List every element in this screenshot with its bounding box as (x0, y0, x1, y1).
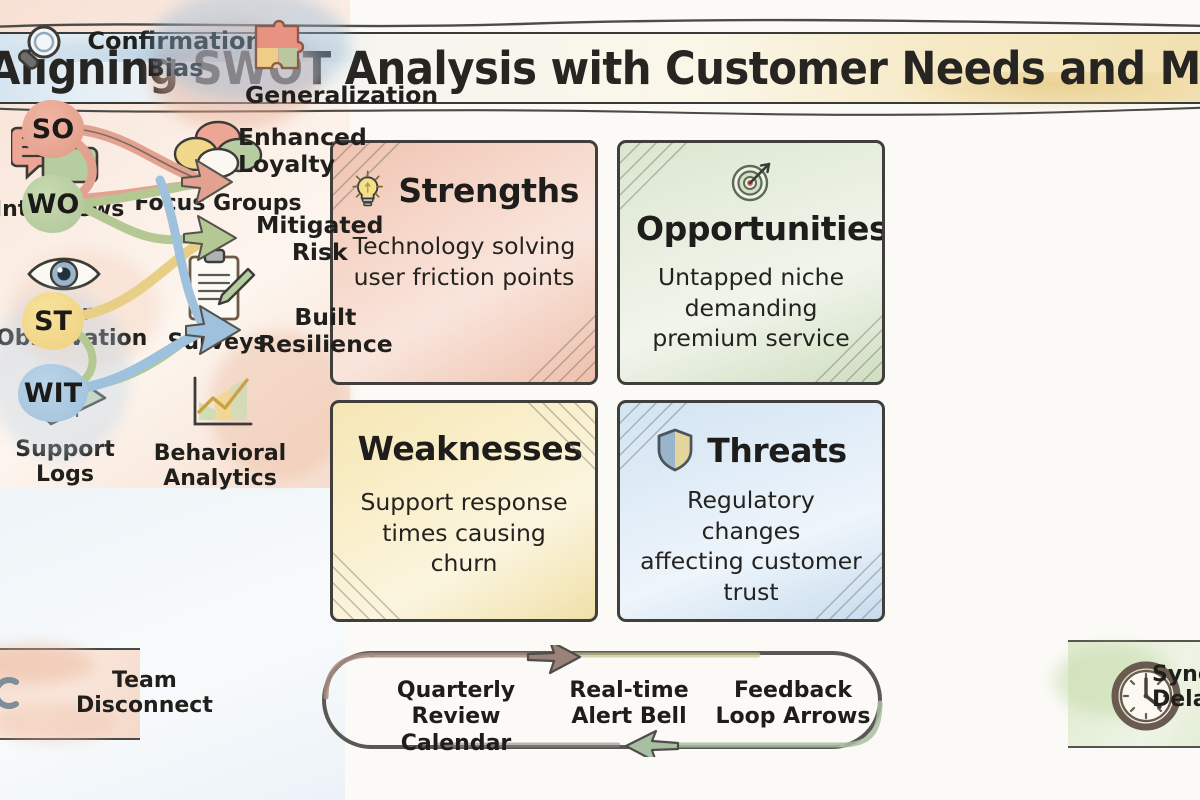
strategy-node-wit[interactable]: WIT (18, 364, 88, 422)
outcome-label-generalization: Generalization (245, 82, 438, 109)
team-disconnect-label: Team Disconnect (76, 668, 213, 718)
strategy-matrix-panel: SO WO ST WIT Generalization Enhanced Loy… (0, 488, 345, 800)
strategy-node-label: ST (34, 306, 72, 337)
corner-hatch (617, 140, 694, 217)
outcome-label-built-resilience: Built Resilience (258, 304, 393, 359)
loop-label-quarterly-review: Quarterly Review Calendar (356, 678, 556, 757)
swot-card-body: Support response times causing churn (349, 487, 579, 579)
swot-card-title: Weaknesses (358, 429, 583, 468)
outcome-label-enhanced-loyalty: Enhanced Loyalty (238, 124, 367, 179)
swot-card-threats[interactable]: Threats Regulatory changes affecting cus… (617, 400, 885, 622)
loop-label-realtime-alert: Real-time Alert Bell (564, 678, 694, 731)
broken-link-icon (0, 668, 38, 726)
swot-card-header: Threats (636, 427, 866, 473)
loop-label-feedback-arrows: Feedback Loop Arrows (708, 678, 878, 731)
strategy-node-st[interactable]: ST (22, 292, 84, 350)
swot-card-body: Regulatory changes affecting customer tr… (636, 485, 866, 607)
swot-card-title: Threats (707, 431, 847, 470)
swot-card-header: Weaknesses (349, 427, 579, 469)
swot-card-body: Technology solving user friction points (349, 231, 579, 292)
strategy-node-so[interactable]: SO (22, 100, 84, 158)
swot-card-opportunities[interactable]: Opportunities Untapped niche demanding p… (617, 140, 885, 385)
feedback-loop: Quarterly Review Calendar Real-time Aler… (318, 645, 888, 757)
outcome-label-mitigated-risk: Mitigated Risk (256, 212, 383, 267)
strategy-node-label: WIT (24, 378, 82, 409)
puzzle-piece-icon (248, 18, 306, 76)
swot-card-weaknesses[interactable]: Weaknesses Support response times causin… (330, 400, 598, 622)
shield-icon (655, 427, 695, 473)
sync-delays-label: Sync Delays (1152, 662, 1200, 712)
strategy-node-label: WO (27, 189, 80, 220)
swot-card-title: Opportunities (636, 209, 866, 248)
swot-card-header: Strengths (349, 167, 579, 213)
swot-card-body: Untapped niche demanding premium service (636, 262, 866, 354)
target-icon (728, 159, 774, 205)
infographic-canvas: Aligning SWOT Analysis with Customer Nee… (0, 0, 1200, 800)
swot-card-title: Strengths (398, 171, 579, 210)
strategy-node-wo[interactable]: WO (22, 175, 84, 233)
corner-hatch (521, 308, 598, 385)
strategy-node-label: SO (32, 114, 74, 145)
